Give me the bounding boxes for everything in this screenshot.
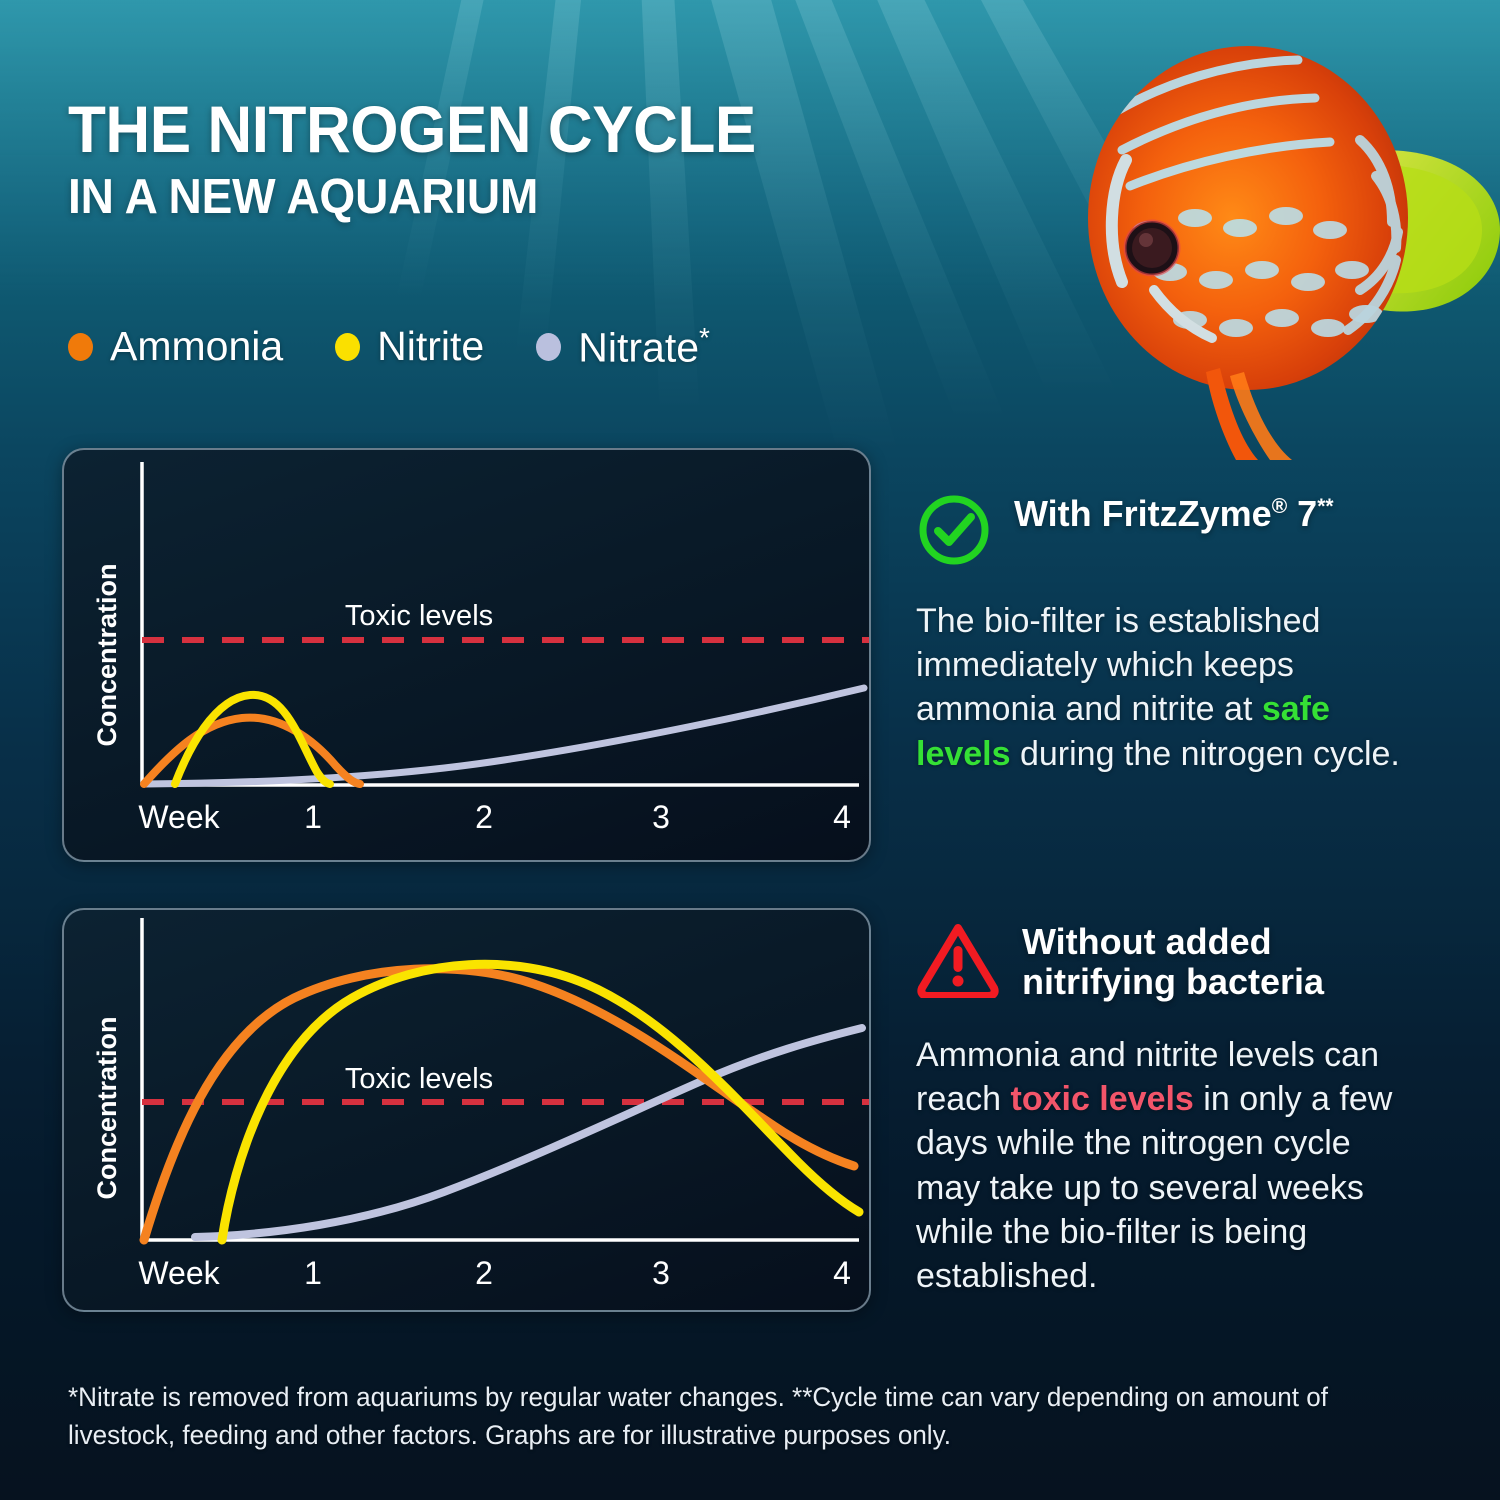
ammonia-dot-icon (68, 333, 93, 361)
x-tick-4-chart2: 4 (833, 1255, 851, 1291)
infographic-page: THE NITROGEN CYCLE IN A NEW AQUARIUM Amm… (0, 0, 1500, 1500)
chart-without-bacteria: Concentration Toxic levels Week 1 2 3 4 (64, 910, 869, 1310)
x-tick-week-chart2: Week (138, 1255, 220, 1291)
panel-with-fritzzyme-body: The bio-filter is established immediatel… (916, 599, 1416, 776)
x-tick-3-chart1: 3 (652, 799, 670, 835)
nitrite-dot-icon (335, 333, 360, 361)
nitrate-dot-icon (536, 333, 561, 361)
legend-label-nitrite: Nitrite (377, 323, 484, 370)
y-axis-label-chart1: Concentration (92, 563, 122, 746)
legend-label-nitrate: Nitrate* (578, 322, 710, 372)
page-header: THE NITROGEN CYCLE IN A NEW AQUARIUM (68, 96, 1068, 222)
page-title-line2: IN A NEW AQUARIUM (68, 173, 1008, 222)
footnote-marker-fritzzyme: ** (1317, 495, 1333, 518)
check-circle-icon (916, 492, 992, 573)
toxic-levels-annotation-chart2: Toxic levels (345, 1063, 493, 1095)
series-nitrate-chart2 (195, 1028, 862, 1237)
legend-label-ammonia: Ammonia (110, 323, 283, 370)
x-tick-1-chart2: 1 (304, 1255, 322, 1291)
chart-card-with-fritzzyme: Concentration Toxic levels Week 1 2 3 4 (62, 448, 871, 862)
chart-with-fritzzyme: Concentration Toxic levels Week 1 2 3 4 (64, 450, 869, 860)
footnotes: *Nitrate is removed from aquariums by re… (68, 1378, 1390, 1455)
x-tick-1-chart1: 1 (304, 799, 322, 835)
page-title-line1: THE NITROGEN CYCLE (68, 96, 1008, 162)
discus-fish-photo (1030, 0, 1500, 460)
legend-item-nitrite: Nitrite (335, 323, 484, 370)
x-tick-4-chart1: 4 (833, 799, 851, 835)
panel-without-bacteria-title: Without addednitrifying bacteria (1022, 918, 1324, 1003)
legend-item-nitrate: Nitrate* (536, 322, 710, 372)
series-nitrate-chart1 (144, 688, 864, 784)
nitrate-footnote-marker: * (699, 322, 710, 353)
series-legend: Ammonia Nitrite Nitrate* (68, 322, 762, 372)
toxic-levels-highlight: toxic levels (1011, 1080, 1194, 1118)
x-tick-2-chart2: 2 (475, 1255, 493, 1291)
y-axis-label-chart2: Concentration (92, 1016, 122, 1199)
panel-without-bacteria-body: Ammonia and nitrite levels can reach tox… (916, 1033, 1416, 1298)
panel-without-bacteria-header: Without addednitrifying bacteria (916, 918, 1416, 1003)
panel-with-fritzzyme-title: With FritzZyme® 7** (1014, 490, 1334, 534)
x-tick-week-chart1: Week (138, 799, 220, 835)
panel-with-fritzzyme: With FritzZyme® 7** The bio-filter is es… (916, 490, 1416, 776)
legend-item-ammonia: Ammonia (68, 323, 283, 370)
chart-card-without-bacteria: Concentration Toxic levels Week 1 2 3 4 (62, 908, 871, 1312)
panel-without-bacteria: Without addednitrifying bacteria Ammonia… (916, 918, 1416, 1298)
warning-triangle-icon (916, 920, 1000, 1003)
panel-with-fritzzyme-header: With FritzZyme® 7** (916, 490, 1416, 573)
x-tick-3-chart2: 3 (652, 1255, 670, 1291)
x-tick-2-chart1: 2 (475, 799, 493, 835)
toxic-levels-annotation-chart1: Toxic levels (345, 600, 493, 632)
